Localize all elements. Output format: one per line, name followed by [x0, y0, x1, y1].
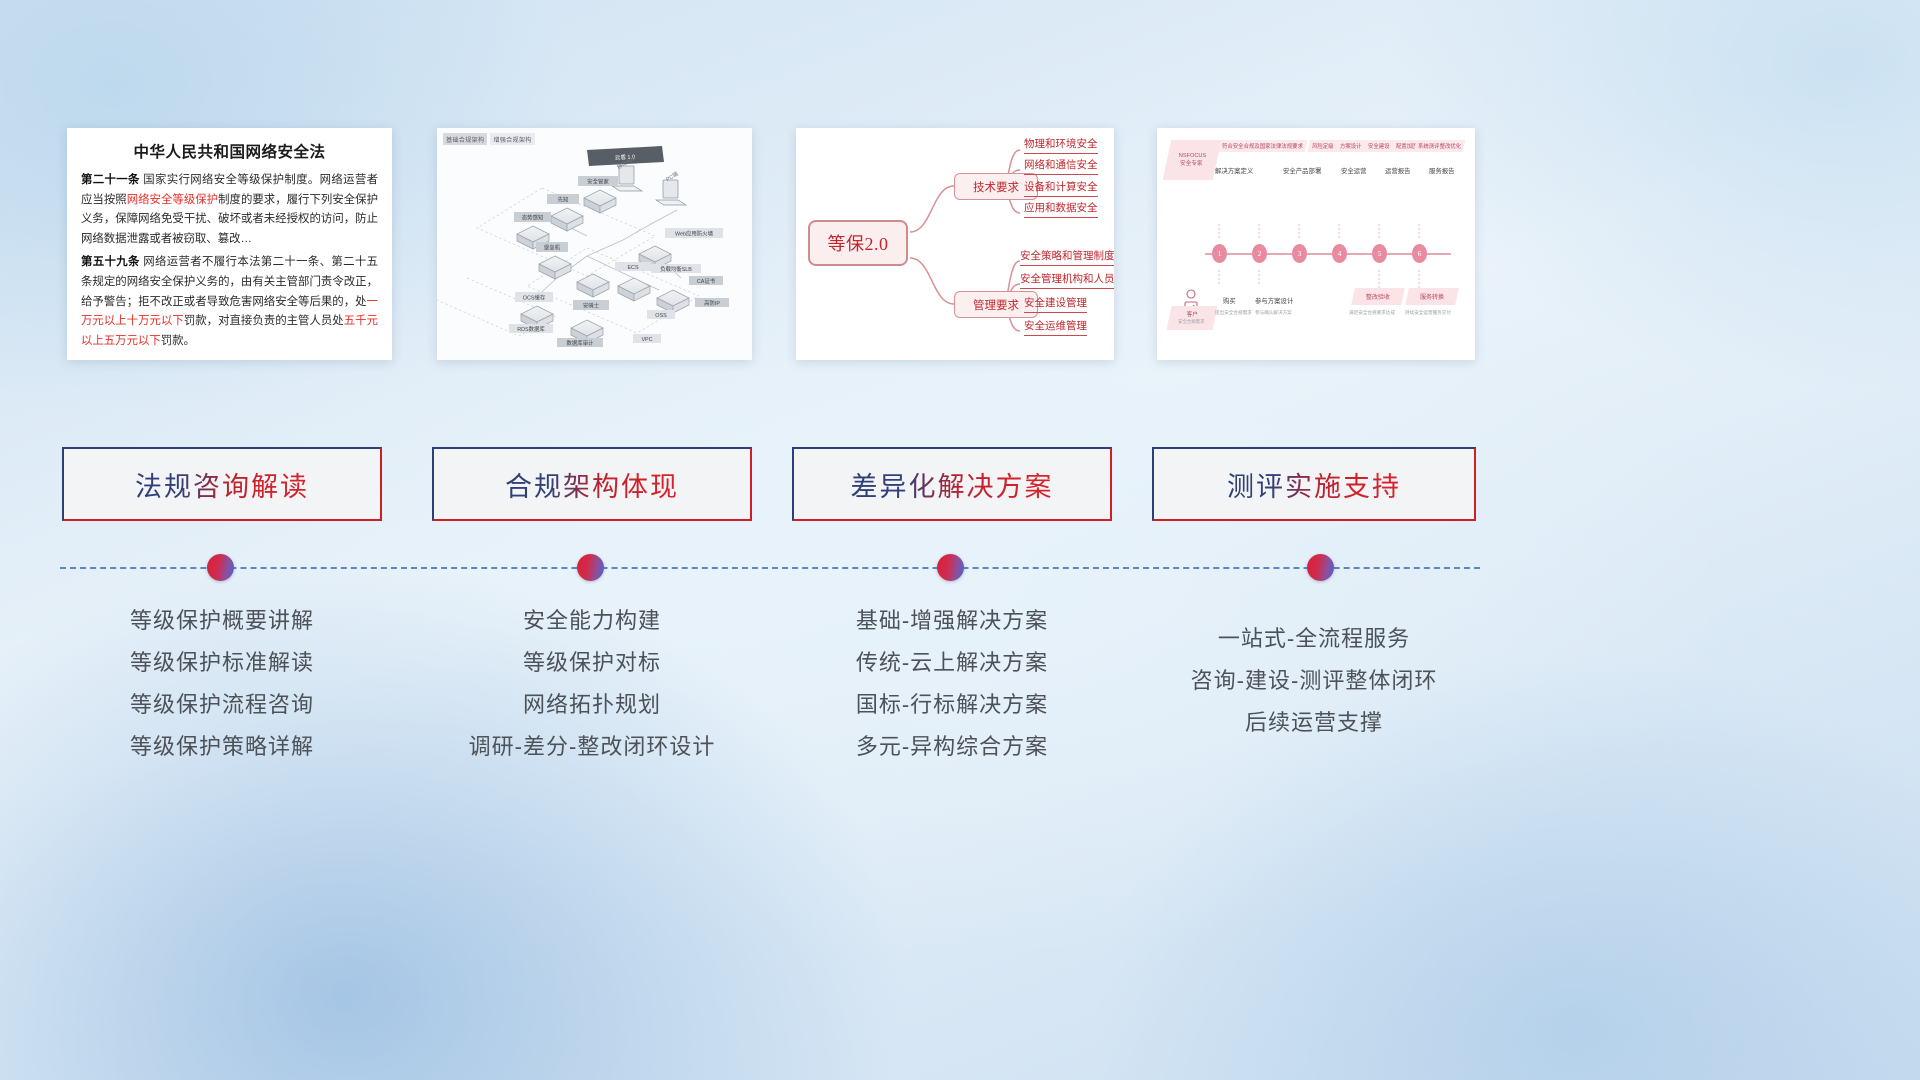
law-article-59: 第五十九条 网络运营者不履行本法第二十一条、第二十五条规定的网络安全保护义务的，…	[81, 253, 378, 351]
architecture-tabs[interactable]: 基础合规架构 增强合规架构	[443, 133, 535, 145]
article-59-text-b: 罚款，对直接负责的主管人员处	[184, 315, 344, 327]
roadmap-top-chip-0: 符合安全合规及国家法律法规要求	[1218, 140, 1307, 152]
roadmap-diagram: NSFOCUS 安全专家 符合安全合规及国家法律法规要求 风险定级 方案设计 安…	[1157, 128, 1475, 360]
list-item: 传统-云上解决方案	[792, 642, 1112, 684]
timeline-dashed-line	[60, 567, 1480, 569]
roadmap-bottom-label-0: 购买	[1223, 296, 1236, 305]
list-item: 国标-行标解决方案	[792, 684, 1112, 726]
expert-badge-line2: 安全专家	[1180, 160, 1202, 168]
svg-text:安骑士: 安骑士	[583, 301, 600, 309]
roadmap-step-6: 6	[1412, 244, 1427, 263]
article-59-text-c: 罚款。	[161, 335, 195, 347]
svg-text:负载均衡SLB: 负载均衡SLB	[660, 265, 692, 273]
timeline-dot-1[interactable]	[207, 554, 234, 581]
card-compliance-architecture[interactable]: 基础合规架构 增强合规架构	[437, 128, 752, 360]
mindmap-leaf-device-compute: 设备和计算安全	[1024, 179, 1098, 197]
mindmap-root: 等保2.0	[808, 220, 908, 266]
tab-basic-architecture[interactable]: 基础合规架构	[443, 133, 487, 145]
roadmap-top-chip-2: 方案设计	[1336, 140, 1366, 152]
svg-text:OSS: OSS	[655, 313, 667, 319]
svg-text:先知: 先知	[558, 195, 569, 203]
roadmap-stage-0: 解决方案定义	[1215, 166, 1253, 175]
list-column-compliance-architecture: 安全能力构建 等级保护对标 网络拓扑规划 调研-差分-整改闭环设计	[432, 600, 752, 768]
mindmap-leaf-construction: 安全建设管理	[1024, 295, 1087, 313]
list-item: 等级保护概要讲解	[62, 600, 382, 642]
mindmap: 等保2.0 技术要求 管理要求 物理和环境安全 网络和通信安全 设备和计算安全 …	[796, 128, 1114, 360]
timeline-dot-2[interactable]	[577, 554, 604, 581]
article-59-label: 第五十九条	[81, 256, 140, 268]
roadmap-step-3: 3	[1292, 244, 1307, 263]
svg-text:CA证书: CA证书	[697, 277, 716, 285]
mindmap-leaf-physical-env: 物理和环境安全	[1024, 136, 1098, 154]
roadmap-stage-3: 运营报告	[1385, 166, 1411, 175]
law-article-21: 第二十一条 国家实行网络安全等级保护制度。网络运营者应当按照网络安全等级保护制度…	[81, 171, 378, 249]
svg-text:数据库审计: 数据库审计	[567, 339, 595, 347]
svg-text:OCS缓存: OCS缓存	[523, 293, 546, 301]
roadmap-banner-sub-1: 持续安全运营服务交付	[1405, 310, 1451, 316]
customer-badge-line2: 安全合规需求	[1178, 319, 1204, 326]
customer-badge-line1: 客户	[1187, 311, 1198, 319]
list-column-differentiated-solutions: 基础-增强解决方案 传统-云上解决方案 国标-行标解决方案 多元-异构综合方案	[792, 600, 1112, 768]
mindmap-leaf-app-data: 应用和数据安全	[1024, 200, 1098, 218]
list-item: 等级保护策略详解	[62, 726, 382, 768]
svg-text:态势感知: 态势感知	[522, 213, 544, 221]
roadmap-bottom-label-1: 参与方案设计	[1255, 296, 1293, 305]
roadmap-banner-1: 服务转换	[1405, 288, 1459, 305]
list-item: 基础-增强解决方案	[792, 600, 1112, 642]
roadmap-banner-sub-0: 满足安全合规要求达成	[1349, 310, 1395, 316]
section-title-label: 法规咨询解读	[135, 465, 309, 504]
roadmap-stage-2: 安全运营	[1341, 166, 1367, 175]
roadmap-step-4: 4	[1332, 244, 1347, 263]
section-title-compliance-architecture[interactable]: 合规架构体现	[432, 447, 752, 521]
svg-text:高防IP: 高防IP	[704, 299, 720, 307]
article-21-label: 第二十一条	[81, 174, 140, 186]
preview-cards-row: 中华人民共和国网络安全法 第二十一条 国家实行网络安全等级保护制度。网络运营者应…	[0, 0, 1920, 420]
svg-text:Web应用防火墙: Web应用防火墙	[675, 229, 714, 237]
mindmap-leaf-policy-system: 安全策略和管理制度	[1020, 248, 1114, 266]
list-item: 等级保护标准解读	[62, 642, 382, 684]
nsfocus-expert-badge: NSFOCUS 安全专家	[1163, 140, 1222, 180]
list-item: 调研-差分-整改闭环设计	[432, 726, 752, 768]
roadmap-banner-0: 整改验收	[1351, 288, 1405, 305]
list-item: 多元-异构综合方案	[792, 726, 1112, 768]
roadmap-stage-4: 服务报告	[1429, 166, 1455, 175]
tab-enhanced-architecture[interactable]: 增强合规架构	[490, 133, 534, 145]
svg-text:安全管家: 安全管家	[587, 177, 609, 185]
roadmap-bottom-sub-0: 提出安全合规需求	[1215, 310, 1252, 316]
list-column-assessment-support: 一站式-全流程服务 咨询-建设-测评整体闭环 后续运营支撑	[1152, 618, 1476, 744]
roadmap-step-5: 5	[1372, 244, 1387, 263]
list-item: 等级保护流程咨询	[62, 684, 382, 726]
section-title-label: 测评实施支持	[1227, 465, 1401, 504]
roadmap-step-2: 2	[1252, 244, 1267, 263]
roadmap-stage-1: 安全产品部署	[1283, 166, 1321, 175]
roadmap-top-chip-3: 安全建设	[1364, 140, 1394, 152]
expert-badge-line1: NSFOCUS	[1179, 152, 1206, 160]
section-title-regulation-consulting[interactable]: 法规咨询解读	[62, 447, 382, 521]
article-21-highlight: 网络安全等级保护	[127, 194, 218, 206]
section-title-assessment-support[interactable]: 测评实施支持	[1152, 447, 1476, 521]
timeline-dot-4[interactable]	[1307, 554, 1334, 581]
section-title-label: 合规架构体现	[505, 465, 679, 504]
svg-text:ECS: ECS	[627, 265, 638, 271]
card-nsfocus-roadmap[interactable]: NSFOCUS 安全专家 符合安全合规及国家法律法规要求 风险定级 方案设计 安…	[1157, 128, 1475, 360]
svg-text:VPC: VPC	[641, 337, 652, 343]
svg-text:RDS数据库: RDS数据库	[517, 325, 545, 333]
section-title-label: 差异化解决方案	[851, 465, 1054, 504]
svg-text:堡垒机: 堡垒机	[544, 243, 561, 251]
list-column-regulation-consulting: 等级保护概要讲解 等级保护标准解读 等级保护流程咨询 等级保护策略详解	[62, 600, 382, 768]
section-lists-row: 等级保护概要讲解 等级保护标准解读 等级保护流程咨询 等级保护策略详解 安全能力…	[0, 600, 1920, 800]
card-mindmap-dengbao[interactable]: 等保2.0 技术要求 管理要求 物理和环境安全 网络和通信安全 设备和计算安全 …	[796, 128, 1114, 360]
roadmap-top-chip-1: 风险定级	[1308, 140, 1338, 152]
timeline-dot-3[interactable]	[937, 554, 964, 581]
law-title: 中华人民共和国网络安全法	[81, 140, 378, 162]
mindmap-leaf-org-personnel: 安全管理机构和人员	[1020, 271, 1114, 289]
section-titles-row: 法规咨询解读 合规架构体现 差异化解决方案 测评实施支持	[0, 447, 1920, 523]
list-item: 安全能力构建	[432, 600, 752, 642]
law-document: 中华人民共和国网络安全法 第二十一条 国家实行网络安全等级保护制度。网络运营者应…	[67, 128, 392, 360]
card-cybersecurity-law[interactable]: 中华人民共和国网络安全法 第二十一条 国家实行网络安全等级保护制度。网络运营者应…	[67, 128, 392, 360]
roadmap-top-chip-5: 系统测评整改优化	[1414, 140, 1466, 152]
architecture-diagram: 基础合规架构 增强合规架构	[437, 128, 752, 360]
list-item: 等级保护对标	[432, 642, 752, 684]
customer-badge: 客户 安全合规需求	[1166, 306, 1217, 330]
architecture-svg: 云盾 1.0 态势感知 先知 安全管家 堡垒机 安骑士 OCS缓存	[437, 128, 752, 360]
timeline	[0, 543, 1920, 593]
list-item: 咨询-建设-测评整体闭环	[1152, 660, 1476, 702]
roadmap-bottom-sub-1: 参与确认解决方案	[1255, 310, 1292, 316]
list-item: 后续运营支撑	[1152, 702, 1476, 744]
roadmap-step-1: 1	[1212, 244, 1227, 263]
section-title-differentiated-solutions[interactable]: 差异化解决方案	[792, 447, 1112, 521]
list-item: 一站式-全流程服务	[1152, 618, 1476, 660]
mindmap-leaf-operation: 安全运维管理	[1024, 318, 1087, 336]
list-item: 网络拓扑规划	[432, 684, 752, 726]
mindmap-leaf-network-comm: 网络和通信安全	[1024, 157, 1098, 175]
